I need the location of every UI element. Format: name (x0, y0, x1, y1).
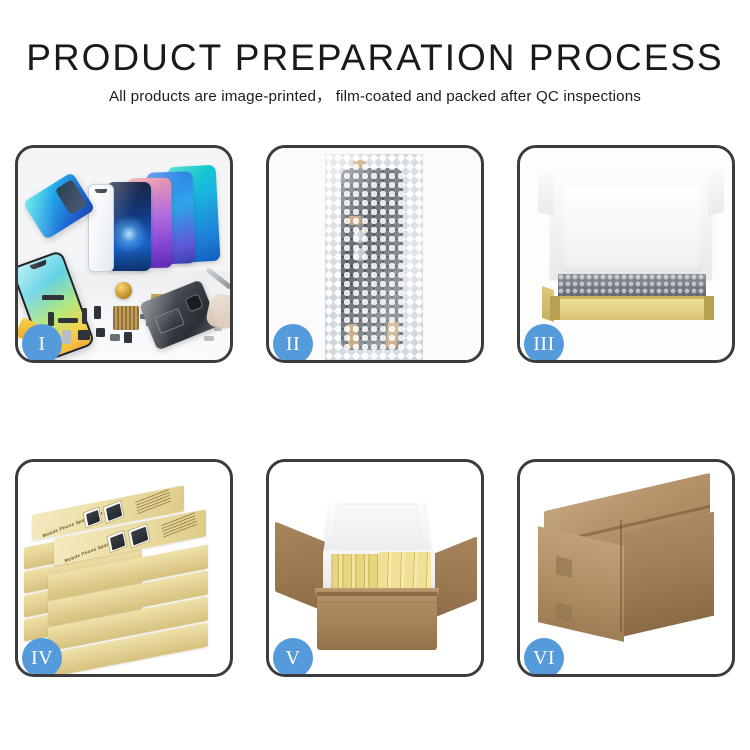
step-badge-1: I (22, 324, 62, 363)
step-panel-4[interactable]: Mobile Phone Spare Parts Mobile Phone Sp… (15, 459, 233, 677)
box-front-edge (550, 296, 714, 299)
step-badge-5: V (273, 638, 313, 677)
part-chip-10 (62, 330, 71, 344)
foam-insert (562, 186, 702, 272)
product-preparation-page: PRODUCT PREPARATION PROCESS All products… (0, 0, 750, 750)
tape-piece-4 (386, 322, 399, 349)
step-panel-3[interactable]: III (517, 145, 735, 363)
carton-right-face (624, 512, 714, 637)
carton-tape-upper (556, 556, 572, 578)
step-badge-4: IV (22, 638, 62, 677)
battery-part (154, 308, 185, 334)
foam-lid-inset (331, 504, 423, 550)
ic-chip-round-1 (353, 230, 366, 243)
lid-tab-right (708, 168, 724, 216)
window-screen (85, 510, 99, 526)
carton-left-face (538, 526, 624, 642)
notch-shape (95, 189, 107, 193)
part-chip-13 (110, 334, 120, 341)
box-window-front-2 (127, 523, 150, 549)
box-corner-left (550, 296, 560, 320)
box-window-front-1 (106, 530, 127, 554)
carton-lip (317, 592, 437, 596)
window-screen (105, 503, 121, 521)
ic-chip-round-2 (353, 248, 366, 261)
step-panel-2[interactable]: II (266, 145, 484, 363)
foam-box-lid (323, 498, 432, 557)
header: PRODUCT PREPARATION PROCESS All products… (0, 36, 750, 107)
lid-tab-left (538, 168, 554, 216)
camera-module (184, 293, 204, 313)
box-front-panel (550, 296, 714, 320)
part-chip-7 (94, 306, 101, 319)
connector-grid-part (113, 306, 139, 330)
part-chip-14 (124, 332, 132, 343)
step-badge-3: III (524, 324, 564, 363)
box-window-rear-2 (102, 500, 124, 524)
part-chip-12 (96, 328, 105, 337)
process-row-bottom: Mobile Phone Spare Parts Mobile Phone Sp… (15, 459, 735, 677)
step-panel-6[interactable]: VI (517, 459, 735, 677)
part-chip-6 (82, 308, 87, 324)
screen-burst-graphic (110, 215, 148, 253)
bubble-wrap-bag (325, 154, 423, 360)
notch-shape (30, 260, 48, 271)
carton-front-panel (317, 592, 437, 650)
part-chip-1 (42, 295, 64, 300)
step-panel-1[interactable]: I (15, 145, 233, 363)
step-panel-5[interactable]: V (266, 459, 484, 677)
tape-piece-3 (346, 323, 359, 348)
phone-internals (55, 179, 88, 215)
glass-screen-protector (88, 184, 114, 272)
box-spec-lines-front (161, 511, 197, 537)
packed-yellow-boxes-secondary (379, 552, 431, 592)
carton-tape-lower (556, 602, 572, 622)
window-screen (109, 533, 124, 550)
process-step-grid: I (15, 145, 735, 677)
part-chip-4 (48, 312, 54, 326)
process-row-top: I (15, 145, 735, 363)
part-chip-15 (204, 336, 214, 341)
page-subtitle: All products are image-printed， film-coa… (0, 87, 750, 107)
page-title: PRODUCT PREPARATION PROCESS (0, 36, 750, 80)
part-chip-11 (78, 330, 90, 340)
phone-tilted-blue (23, 172, 96, 240)
step-badge-6: VI (524, 638, 564, 677)
tape-piece-2 (349, 216, 361, 225)
step-badge-2: II (273, 324, 313, 363)
tape-piece-1 (353, 160, 366, 168)
vibration-motor-part (115, 282, 132, 299)
carton-crease (317, 602, 437, 603)
box-corner-right (704, 296, 714, 320)
window-screen (130, 526, 147, 545)
carton-vertical-edge (620, 520, 622, 632)
part-chip-5 (58, 318, 78, 323)
box-spec-lines-rear (135, 488, 171, 514)
box-window-rear-1 (83, 506, 103, 529)
